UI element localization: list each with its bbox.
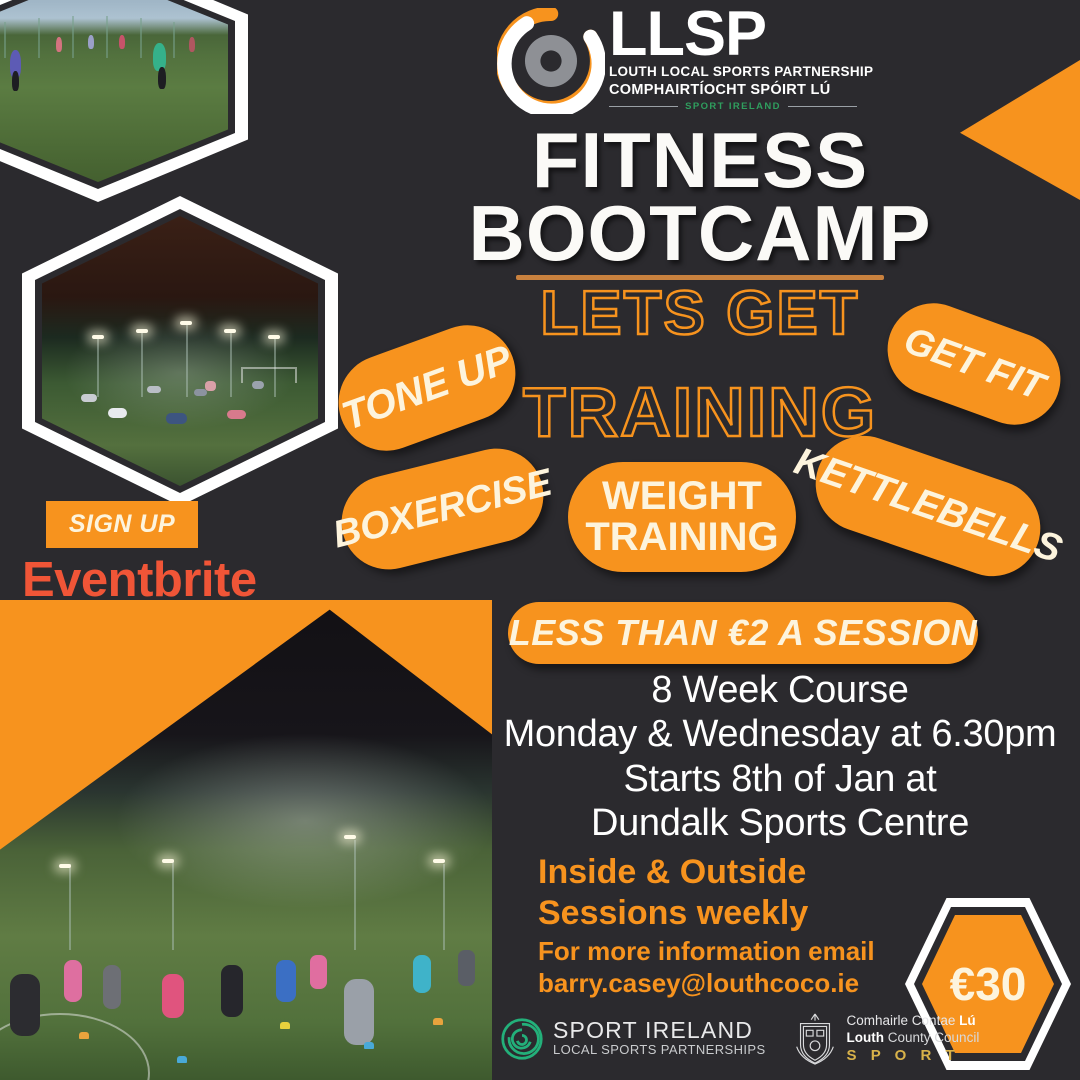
page-title: FITNESS BOOTCAMP <box>420 124 980 280</box>
llsp-tagline-ga: COMPHAIRTÍOCHT SPÓIRT LÚ <box>609 81 857 99</box>
info-inside-outside: Inside & Outside <box>538 852 958 893</box>
louth-council-line2-plain: County Council <box>884 1030 979 1045</box>
contact-email[interactable]: barry.casey@louthcoco.ie <box>538 967 958 1000</box>
bottom-photo <box>0 600 492 1080</box>
activity-pill-weight-training: WEIGHT TRAINING <box>568 462 796 572</box>
title-line-2: BOOTCAMP <box>420 197 980 270</box>
detail-start-date: Starts 8th of Jan at <box>500 757 1060 801</box>
llsp-wordmark: LLSP <box>609 4 857 64</box>
sign-up-label: SIGN UP <box>69 510 175 539</box>
louth-council-wordmark: Comhairle Contae Lú Louth County Council… <box>847 1013 980 1066</box>
photo-floodlit-night-pitch <box>42 216 318 486</box>
hex-photo-middle <box>22 196 338 506</box>
louth-council-line1-plain: Comhairle Contae <box>847 1013 960 1028</box>
price-banner: LESS THAN €2 A SESSION <box>508 602 978 664</box>
louth-county-council-logo: Comhairle Contae Lú Louth County Council… <box>792 1012 980 1066</box>
llsp-logo-mark-icon <box>497 8 605 114</box>
sport-ireland-spiral-icon <box>500 1017 544 1061</box>
photo-daytime-pitch <box>0 0 228 182</box>
louth-council-sport-label: S P O R T <box>847 1047 980 1066</box>
hex-frame-outer <box>0 0 248 202</box>
sport-ireland-line2: LOCAL SPORTS PARTNERSHIPS <box>553 1042 766 1059</box>
footer-logos: SPORT IRELAND LOCAL SPORTS PARTNERSHIPS … <box>500 1006 979 1072</box>
sport-ireland-line1: SPORT IRELAND <box>553 1019 766 1042</box>
activity-pill-label: BOXERCISE <box>329 461 557 557</box>
louth-council-line2: Louth County Council <box>847 1030 980 1047</box>
detail-duration: 8 Week Course <box>500 668 1060 712</box>
price-banner-label: LESS THAN €2 A SESSION <box>509 612 977 654</box>
info-sessions-weekly: Sessions weekly <box>538 893 958 934</box>
divider-left <box>609 106 678 107</box>
orange-wedge-overlay <box>0 600 492 1080</box>
hex-photo-clip <box>0 0 228 182</box>
louth-council-line2-bold: Louth <box>847 1030 884 1045</box>
llsp-logo-text: LLSP LOUTH LOCAL SPORTS PARTNERSHIP COMP… <box>609 4 857 112</box>
activity-pill-label-line2: TRAINING <box>585 517 778 558</box>
hex-photo-clip <box>42 216 318 486</box>
extra-info-block: Inside & Outside Sessions weekly For mor… <box>538 852 958 1000</box>
llsp-sport-ireland-row: SPORT IRELAND <box>609 101 857 112</box>
llsp-tagline-en: LOUTH LOCAL SPORTS PARTNERSHIP <box>609 64 857 81</box>
poster-canvas: SIGN UP Eventbrite <box>0 0 1080 1080</box>
sport-ireland-wordmark: SPORT IRELAND LOCAL SPORTS PARTNERSHIPS <box>553 1019 766 1059</box>
divider-right <box>788 106 857 107</box>
llsp-sport-ireland-label: SPORT IRELAND <box>685 101 781 112</box>
sport-ireland-logo: SPORT IRELAND LOCAL SPORTS PARTNERSHIPS <box>500 1017 766 1061</box>
info-contact-prompt: For more information email <box>538 935 958 968</box>
hex-frame-outer <box>22 196 338 506</box>
hex-photo-top <box>0 0 248 202</box>
detail-schedule: Monday & Wednesday at 6.30pm <box>500 712 1060 756</box>
hex-frame-inner <box>35 209 325 493</box>
sign-up-badge[interactable]: SIGN UP <box>46 501 198 548</box>
activity-pill-boxercise: BOXERCISE <box>332 439 554 580</box>
activity-pill-label-line1: WEIGHT <box>585 476 778 517</box>
louth-crest-icon <box>792 1012 838 1066</box>
louth-council-line1: Comhairle Contae Lú <box>847 1013 980 1030</box>
detail-venue: Dundalk Sports Centre <box>500 801 1060 845</box>
activity-pill-label: KETTLEBELLS <box>789 440 1068 573</box>
llsp-logo: LLSP LOUTH LOCAL SPORTS PARTNERSHIP COMP… <box>497 4 857 124</box>
louth-council-line1-bold: Lú <box>959 1013 976 1028</box>
title-line-1: FITNESS <box>420 124 980 197</box>
hex-frame-inner <box>0 0 235 189</box>
course-details: 8 Week Course Monday & Wednesday at 6.30… <box>500 668 1060 846</box>
